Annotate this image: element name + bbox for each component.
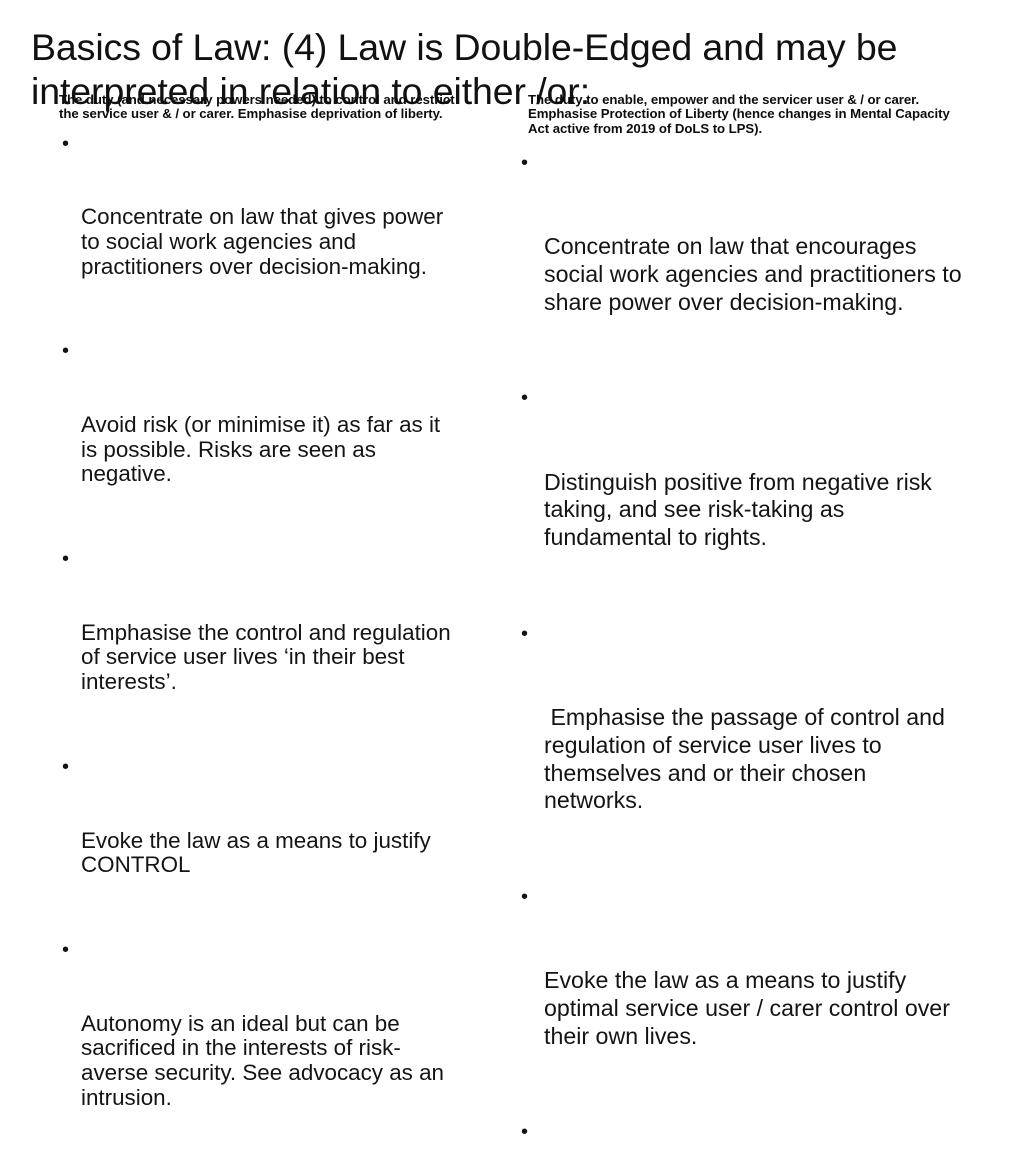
list-item: • Avoid risk (or minimise it) as far as … [57,339,457,536]
bullet-dot-icon: • [521,385,539,413]
list-item-text: Avoid risk (or minimise it) as far as it… [81,413,457,487]
column-left-header: The duty (and necessary powers needed) t… [57,93,457,122]
list-item: • Evoke the law as a means to justify op… [519,884,969,1106]
list-item: • Autonomy is an ideal but can be sacrif… [57,938,457,1152]
list-item-text: Evoke the law as a means to justify CONT… [81,829,457,878]
list-item: • Autonomy is an aspiration using tools … [519,1119,969,1152]
column-left-bullet-list: • Concentrate on law that gives power to… [57,132,457,1152]
bullet-dot-icon: • [521,1119,539,1147]
list-item: • Concentrate on law that encourages soc… [519,150,969,372]
column-left: The duty (and necessary powers needed) t… [57,93,457,1152]
column-right-bullet-list: • Concentrate on law that encourages soc… [519,150,969,1152]
list-item-text: Evoke the law as a means to justify opti… [544,967,969,1050]
bullet-dot-icon: • [62,339,80,364]
bullet-dot-icon: • [521,884,539,912]
column-right-header: The duty to enable, empower and the serv… [519,93,969,136]
slide-canvas: Basics of Law: (4) Law is Double-Edged a… [0,0,1024,576]
list-item: • Emphasise the passage of control and r… [519,621,969,871]
list-item-text: Emphasise the control and regulation of … [81,621,457,695]
list-item-text: Concentrate on law that encourages socia… [544,233,969,316]
bullet-dot-icon: • [62,547,80,572]
bullet-dot-icon: • [62,132,80,157]
bullet-dot-icon: • [62,755,80,780]
list-item-text: Emphasise the passage of control and reg… [544,704,969,815]
list-item-text: Autonomy is an ideal but can be sacrific… [81,1012,457,1110]
list-item-text: Distinguish positive from negative risk … [544,469,969,552]
list-item-text: Concentrate on law that gives power to s… [81,205,457,279]
bullet-dot-icon: • [521,621,539,649]
bullet-dot-icon: • [521,150,539,178]
list-item: • Concentrate on law that gives power to… [57,132,457,329]
list-item: • Distinguish positive from negative ris… [519,385,969,607]
bullet-dot-icon: • [62,938,80,963]
list-item: • Evoke the law as a means to justify CO… [57,755,457,927]
column-right: The duty to enable, empower and the serv… [519,93,969,1152]
two-column-body: The duty (and necessary powers needed) t… [0,93,1024,576]
list-item: • Emphasise the control and regulation o… [57,547,457,744]
